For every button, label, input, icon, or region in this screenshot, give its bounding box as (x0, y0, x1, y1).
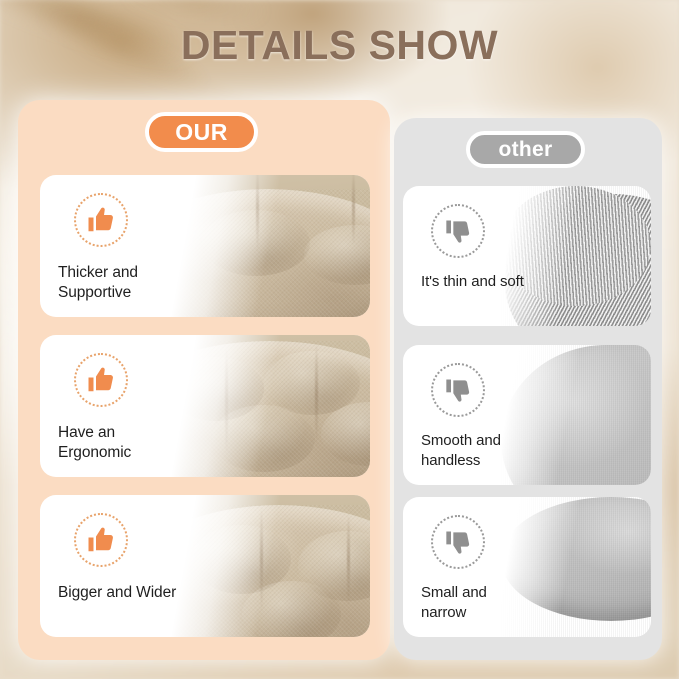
thumbs-up-icon (74, 353, 128, 407)
feature-label: Thicker and Supportive (58, 263, 190, 304)
thumbs-down-icon (431, 515, 485, 569)
feature-text-other-3: Small and narrow (403, 497, 529, 637)
feature-label: Have an Ergonomic (58, 423, 190, 464)
thumbs-down-icon (431, 204, 485, 258)
thumbs-down-icon (431, 363, 485, 417)
feature-text-our-3: Bigger and Wider (40, 495, 190, 637)
page-title: DETAILS SHOW (0, 22, 679, 69)
feature-card-our-1[interactable]: Thicker and Supportive (40, 175, 370, 317)
feature-card-other-3[interactable]: Small and narrow (403, 497, 651, 637)
thumbs-up-icon (74, 513, 128, 567)
badge-other-label: other (499, 138, 553, 162)
feature-card-our-2[interactable]: Have an Ergonomic (40, 335, 370, 477)
cushion-seam (315, 341, 318, 447)
feature-label: Small and narrow (421, 583, 529, 623)
badge-our: OUR (145, 112, 258, 152)
feature-text-other-2: Smooth and handless (403, 345, 529, 485)
thumbs-up-icon (74, 193, 128, 247)
badge-our-label: OUR (175, 119, 228, 146)
feature-card-other-1[interactable]: It's thin and soft (403, 186, 651, 326)
feature-card-other-2[interactable]: Smooth and handless (403, 345, 651, 485)
feature-text-other-1: It's thin and soft (403, 186, 529, 326)
feature-text-our-1: Thicker and Supportive (40, 175, 190, 317)
badge-other: other (466, 131, 585, 168)
feature-label: Bigger and Wider (58, 583, 190, 603)
feature-card-our-3[interactable]: Bigger and Wider (40, 495, 370, 637)
feature-text-our-2: Have an Ergonomic (40, 335, 190, 477)
feature-label: Smooth and handless (421, 431, 529, 471)
cushion-tuft (304, 225, 370, 285)
feature-label: It's thin and soft (421, 272, 529, 292)
